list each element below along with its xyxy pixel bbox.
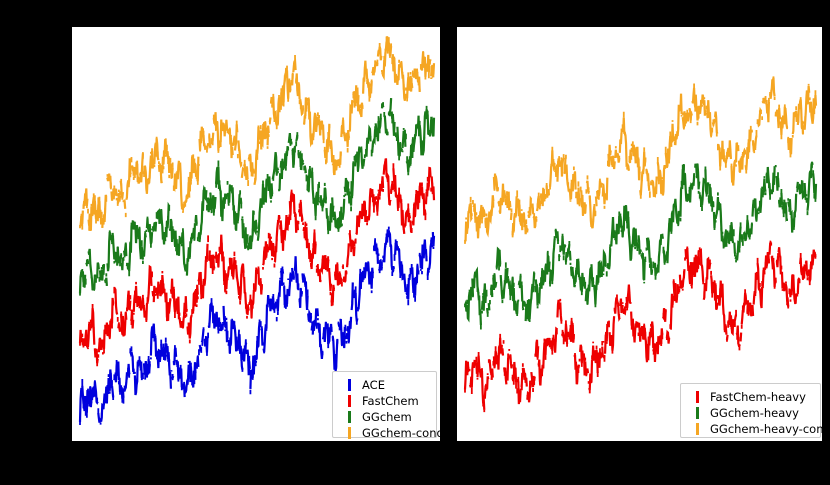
spectrum-trace: [80, 36, 434, 230]
legend-entry-ggchem-cond[interactable]: GGchem-cond: [339, 425, 428, 441]
legend-entry-label: GGchem-heavy-cond: [710, 421, 830, 437]
legend-entry-ggchem-heavy[interactable]: GGchem-heavy: [687, 405, 812, 421]
right-panel-plot-area: [457, 27, 822, 441]
legend-color-swatch-icon: [348, 411, 351, 423]
legend-entry-fastchem[interactable]: FastChem: [339, 393, 428, 409]
series-ggchem-heavy-cond: [465, 76, 816, 243]
legend-color-swatch-icon: [696, 423, 699, 435]
legend-entry-label: GGchem-cond: [362, 425, 444, 441]
spectrum-scatter: [80, 36, 433, 231]
legend-entry-ace[interactable]: ACE: [339, 377, 428, 393]
legend-color-swatch-icon: [348, 427, 351, 439]
legend-entry-ggchem-heavy-cond[interactable]: GGchem-heavy-cond: [687, 421, 812, 437]
legend-entry-label: ACE: [362, 377, 385, 393]
legend-entry-label: GGchem: [362, 409, 412, 425]
legend-entry-label: GGchem-heavy: [710, 405, 799, 421]
right-panel: [457, 27, 822, 441]
legend-entry-fastchem-heavy[interactable]: FastChem-heavy: [687, 389, 812, 405]
legend-entry-ggchem[interactable]: GGchem: [339, 409, 428, 425]
legend-color-swatch-icon: [696, 391, 699, 403]
legend-left: ACEFastChemGGchemGGchem-cond: [332, 371, 437, 438]
legend-entry-label: FastChem: [362, 393, 419, 409]
figure-canvas: ACEFastChemGGchemGGchem-cond FastChem-he…: [0, 0, 830, 485]
legend-color-swatch-icon: [348, 379, 351, 391]
series-ggchem-cond: [80, 36, 434, 231]
legend-right: FastChem-heavyGGchem-heavyGGchem-heavy-c…: [680, 383, 821, 438]
spectrum-trace: [465, 78, 816, 242]
legend-entry-label: FastChem-heavy: [710, 389, 806, 405]
legend-color-swatch-icon: [348, 395, 351, 407]
legend-color-swatch-icon: [696, 407, 699, 419]
